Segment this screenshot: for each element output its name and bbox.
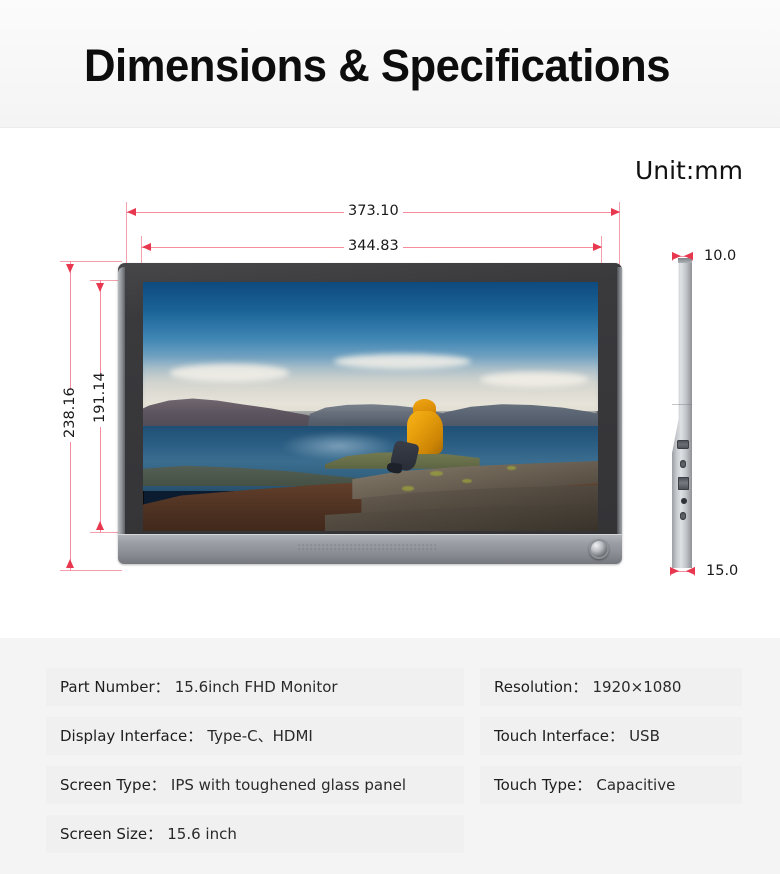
spec-value: 15.6inch FHD Monitor [175,678,338,696]
spec-value: Capacitive [596,776,675,794]
screen-moss-patch [507,466,516,470]
dimension-label-screen-height: 191.14 [92,375,108,427]
monitor-front-view [118,263,622,563]
arrow-screen-height-bottom [96,521,104,530]
spec-value: USB [629,727,660,745]
arrow-thickness-top-right [684,252,693,260]
arrow-thickness-top-left [672,252,681,260]
speaker-grille-icon [297,543,437,552]
dimension-label-thickness-bottom: 15.0 [702,563,742,579]
arrow-screen-height-top [96,283,104,292]
arrow-outer-height-top [66,264,74,273]
spec-row: Touch Interface： USB [480,717,742,755]
arrow-screen-width-right [593,243,602,251]
spec-row: Touch Type： Capacitive [480,766,742,804]
side-taper-seam [672,404,692,405]
screen-person-figure [396,399,455,474]
spec-value: 15.6 inch [167,825,237,843]
dimension-label-outer-width: 373.10 [344,203,403,219]
headphone-jack-icon [681,498,687,504]
dimension-label-outer-height: 238.16 [62,390,78,442]
unit-label: Unit:mm [635,156,743,185]
spec-row: Display Interface： Type-C、HDMI [46,717,464,755]
monitor-side-view [668,258,696,568]
arrow-thickness-bottom-right [686,567,695,575]
screen-moss-patch [462,479,472,483]
spec-row: Screen Size： 15.6 inch [46,815,464,853]
arrow-thickness-bottom-left [670,567,679,575]
usb-a-port-icon [678,477,689,490]
dimension-label-screen-width: 344.83 [344,238,403,254]
monitor-bezel [118,263,622,535]
spec-key: Screen Type： [60,776,166,794]
control-knob[interactable] [589,539,609,559]
spec-key: Part Number： [60,678,170,696]
monitor-bottom-bar [118,534,622,564]
spec-row: Resolution： 1920×1080 [480,668,742,706]
spec-value: Type-C、HDMI [207,727,313,745]
spec-key: Resolution： [494,678,587,696]
spec-row: Screen Type： IPS with toughened glass pa… [46,766,464,804]
spec-value: 1920×1080 [592,678,681,696]
specifications-section: Part Number： 15.6inch FHD Monitor Displa… [0,638,780,874]
spec-key: Screen Size： [60,825,162,843]
usb-c-port-icon [680,512,686,520]
monitor-screen [143,282,598,531]
bezel-left-edge [118,267,125,535]
dimension-label-thickness-top: 10.0 [700,248,740,264]
page-header: Dimensions & Specifications [0,0,780,128]
screen-cloud [170,364,288,381]
arrow-outer-height-bottom [66,559,74,568]
screen-cloud [334,354,471,369]
spec-row: Part Number： 15.6inch FHD Monitor [46,668,464,706]
technical-drawing-area: Unit:mm 373.10 344.83 238.16 191.14 [0,128,780,638]
screen-moss-patch [402,486,414,490]
bezel-right-edge [617,267,622,535]
page-title: Dimensions & Specifications [84,40,670,92]
arrow-screen-width-left [142,243,151,251]
arrow-outer-width-left [127,208,136,216]
mini-hdmi-port-icon [677,440,689,449]
side-profile-shell [672,258,692,568]
arrow-outer-width-right [611,208,620,216]
usb-c-port-icon [680,460,686,468]
specs-column-left: Part Number： 15.6inch FHD Monitor Displa… [46,668,464,864]
spec-value: IPS with toughened glass panel [171,776,406,794]
spec-key: Display Interface： [60,727,202,745]
screen-cloud [480,372,589,387]
specs-column-right: Resolution： 1920×1080 Touch Interface： U… [480,668,742,815]
spec-key: Touch Interface： [494,727,624,745]
spec-key: Touch Type： [494,776,591,794]
